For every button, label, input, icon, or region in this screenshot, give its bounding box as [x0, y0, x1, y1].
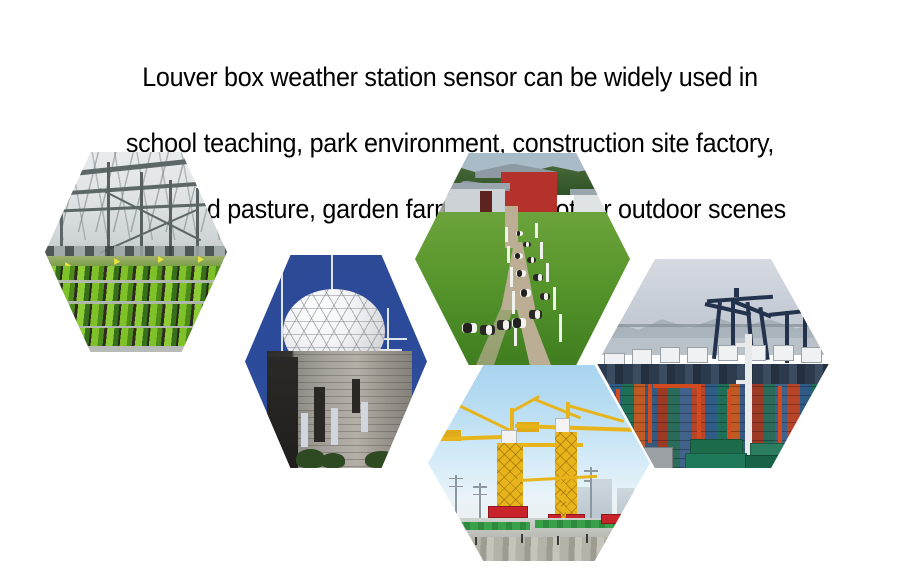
weather-radar-scene: [245, 255, 427, 468]
hex-image-greenhouse: [45, 152, 227, 352]
dairy-farm-scene: [415, 153, 630, 365]
greenhouse-scene: [45, 152, 227, 352]
poster-root: Louver box weather station sensor can be…: [0, 0, 900, 581]
hexagon-collage: [0, 0, 900, 581]
hex-image-weather-radar: [245, 255, 427, 468]
hex-image-dairy-farm: [415, 153, 630, 365]
